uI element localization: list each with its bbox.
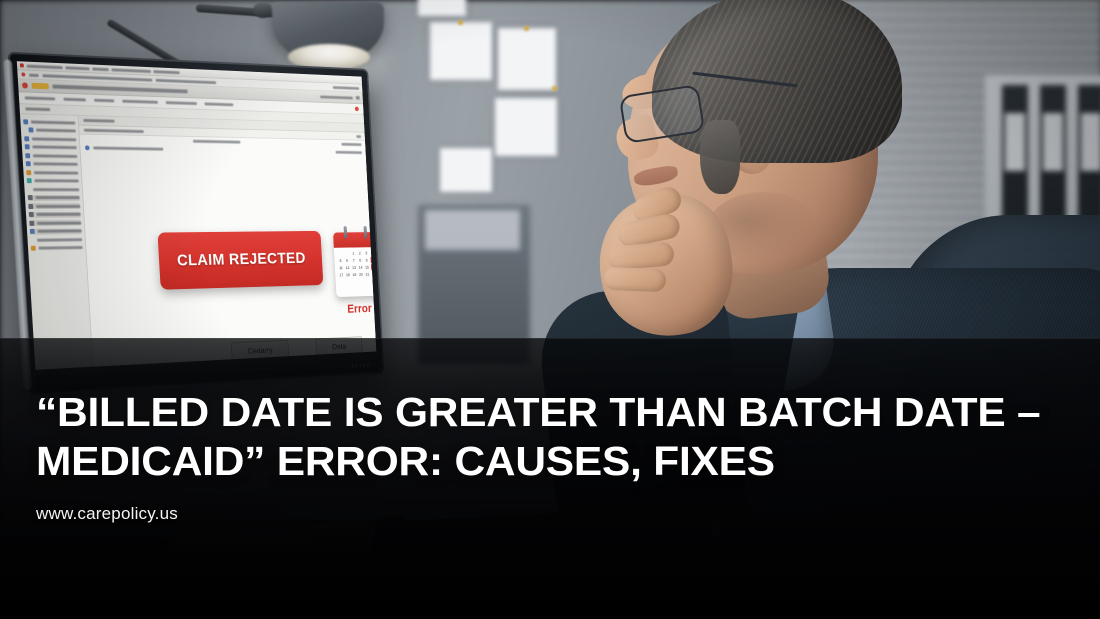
calendar-day: 15 (364, 264, 370, 270)
item-label[interactable] (93, 146, 163, 150)
calendar-ring (364, 226, 368, 238)
lamp-joint (253, 2, 273, 18)
calendar-day: 7 (351, 257, 357, 263)
tab-title[interactable] (52, 85, 187, 93)
toolbar-menu[interactable] (204, 102, 233, 106)
sidebar-item-label[interactable] (37, 221, 81, 224)
blog-featured-image: CLAIM REJECTED 1234567891011121314151617… (0, 0, 1100, 619)
sidebar-item-label[interactable] (33, 154, 77, 158)
sidebar-item-label[interactable] (37, 238, 82, 242)
calendar-day: 17 (338, 272, 344, 278)
calendar-day: 14 (358, 264, 364, 270)
folder-icon (24, 136, 29, 141)
site-url: www.carepolicy.us (36, 504, 1046, 524)
column-header (193, 140, 240, 144)
toolbar-menu[interactable] (63, 97, 85, 101)
app-icon (20, 63, 24, 67)
calendar-day: 1 (350, 250, 356, 256)
toolbar-menu[interactable] (122, 99, 158, 104)
sidebar-item-label[interactable] (32, 145, 76, 149)
sidebar-item-label[interactable] (37, 229, 81, 232)
claim-rejected-banner: CLAIM REJECTED (157, 231, 323, 290)
browser-logo-icon (22, 82, 28, 88)
bookmark-item[interactable] (156, 78, 217, 83)
menu-item[interactable] (65, 66, 89, 70)
menu-item[interactable] (92, 67, 109, 71)
sidebar-item-label[interactable] (36, 129, 76, 133)
calendar-day: 20 (358, 271, 364, 277)
close-icon[interactable] (356, 96, 360, 100)
sidebar-item-label[interactable] (33, 188, 79, 191)
sidebar-item-label[interactable] (31, 120, 75, 124)
calendar-day: 21 (364, 271, 370, 277)
calendar-day: 3 (363, 250, 369, 256)
breadcrumb[interactable] (84, 128, 144, 132)
subtoolbar-item[interactable] (25, 107, 50, 111)
tab-favicon (31, 83, 48, 90)
calendar-day: 2 (357, 250, 363, 256)
folder-icon (28, 127, 33, 132)
calendar-ring (344, 226, 348, 239)
pinned-paper (440, 148, 492, 192)
calendar-day: 5 (338, 257, 344, 263)
calendar-header (333, 232, 376, 248)
warning-icon (31, 246, 36, 251)
bookmark-icon (21, 72, 25, 76)
app-body: CLAIM REJECTED 1234567891011121314151617… (20, 114, 376, 370)
folder-icon (26, 161, 31, 166)
pinned-paper (430, 22, 492, 80)
menu-item[interactable] (27, 64, 63, 69)
toolbar-menu[interactable] (166, 101, 197, 105)
folder-icon (25, 144, 30, 149)
item-icon (85, 145, 90, 150)
item-meta (336, 151, 362, 154)
bookmark-item[interactable] (29, 73, 39, 76)
menu-item[interactable] (111, 68, 151, 73)
sidebar-item-label[interactable] (36, 204, 80, 207)
calendar-day: 6 (344, 257, 350, 263)
file-icon (28, 204, 33, 209)
folder-icon (25, 153, 30, 158)
file-icon (28, 195, 33, 200)
pinned-paper (498, 28, 556, 90)
sidebar-item-label[interactable] (32, 137, 76, 141)
record-icon[interactable] (355, 107, 359, 112)
page-title: “BILLED DATE IS GREATER THAN BATCH DATE … (36, 388, 1045, 486)
app-content: CLAIM REJECTED 1234567891011121314151617… (78, 116, 376, 367)
pinned-paper (495, 98, 557, 156)
sidebar-item-label[interactable] (33, 162, 77, 165)
toolbar-menu[interactable] (94, 99, 114, 103)
calendar-day (337, 250, 343, 256)
calendar-day: 8 (357, 257, 363, 263)
calendar-icon: 12345678910111213141516171819202122 (333, 232, 376, 297)
file-icon (29, 220, 34, 225)
calendar-day: 18 (345, 272, 351, 278)
folder-icon (23, 119, 28, 124)
toolbar-icons[interactable] (341, 143, 361, 146)
warning-icon (26, 170, 31, 175)
database-icon (27, 178, 32, 183)
calendar-day: 11 (338, 265, 344, 271)
cubicle-top (425, 210, 520, 250)
more-icon[interactable] (356, 135, 361, 138)
calendar-day: 9 (364, 257, 370, 263)
calendar-day (344, 250, 350, 256)
monitor-screen: CLAIM REJECTED 1234567891011121314151617… (17, 61, 377, 370)
pin-icon (458, 20, 463, 25)
window-controls[interactable] (320, 95, 353, 99)
sidebar-item-label[interactable] (34, 171, 78, 174)
file-icon (29, 212, 34, 217)
sidebar-item-label[interactable] (38, 246, 82, 250)
folder-icon (30, 229, 35, 234)
calendar-day: 12 (344, 264, 350, 270)
claim-rejected-label: CLAIM REJECTED (177, 249, 307, 270)
sideburn (700, 120, 740, 194)
pin-icon (524, 26, 529, 31)
calendar-day: 19 (351, 271, 357, 277)
menu-item[interactable] (153, 70, 179, 74)
sidebar-item-label[interactable] (34, 179, 78, 182)
pinned-paper (418, 0, 466, 16)
finger (604, 267, 667, 292)
bookmark-item[interactable] (333, 86, 359, 90)
calendar-grid: 12345678910111213141516171819202122 (334, 247, 376, 281)
overlay-top-edge (0, 338, 1100, 339)
pin-icon (552, 86, 557, 91)
toolbar-menu[interactable] (25, 96, 56, 100)
calendar-day: 13 (351, 264, 357, 270)
tab-label[interactable] (83, 119, 114, 123)
overlay-text-block: “BILLED DATE IS GREATER THAN BATCH DATE … (36, 388, 1046, 524)
error-label: Error (334, 301, 377, 316)
sidebar-item-label[interactable] (36, 213, 80, 216)
sidebar-item-label[interactable] (35, 196, 79, 199)
